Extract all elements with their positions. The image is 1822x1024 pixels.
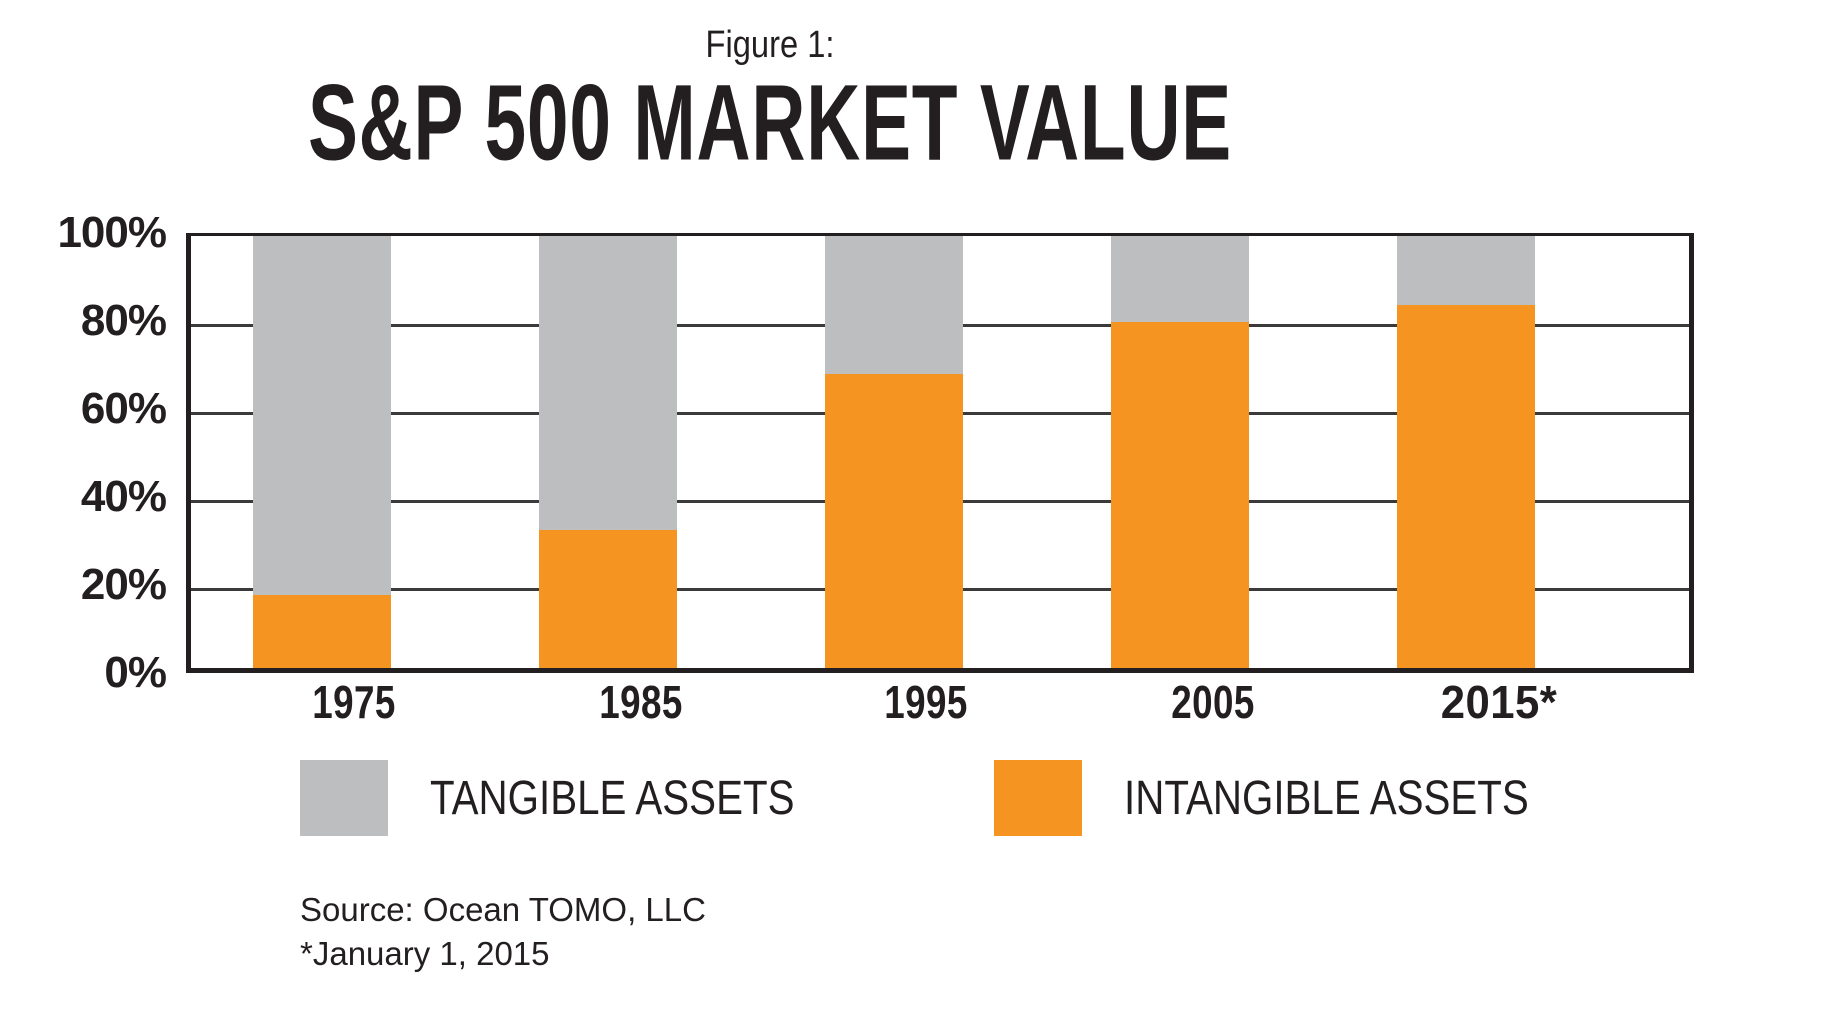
bar-1995 bbox=[825, 236, 963, 668]
figure-root: Figure 1: S&P 500 MARKET VALUE 100% 80% … bbox=[0, 0, 1822, 1024]
chart-legend: TANGIBLE ASSETS INTANGIBLE ASSETS bbox=[300, 760, 1600, 840]
y-tick-100: 100% bbox=[6, 211, 166, 255]
y-axis-labels: 100% 80% 60% 40% 20% 0% bbox=[0, 233, 166, 673]
x-tick-1995: 1995 bbox=[834, 679, 1018, 725]
bar-segment-tangible bbox=[825, 236, 963, 374]
x-tick-2005: 2005 bbox=[1121, 679, 1305, 725]
x-tick-1975: 1975 bbox=[262, 679, 446, 725]
x-tick-2015: 2015* bbox=[1390, 679, 1609, 725]
gridline-40 bbox=[191, 500, 1689, 503]
plot-frame bbox=[186, 233, 1694, 673]
legend-swatch-intangible bbox=[994, 760, 1082, 836]
x-axis-labels: 1975 1985 1995 2005 2015* bbox=[186, 679, 1694, 737]
bar-2015 bbox=[1397, 236, 1535, 668]
page-title: S&P 500 MARKET VALUE bbox=[169, 70, 1370, 178]
bar-segment-tangible bbox=[1397, 236, 1535, 305]
y-tick-40: 40% bbox=[6, 475, 166, 519]
footnote-line: *January 1, 2015 bbox=[300, 932, 706, 976]
gridline-60 bbox=[191, 412, 1689, 415]
bar-segment-intangible bbox=[253, 595, 391, 668]
bar-2005 bbox=[1111, 236, 1249, 668]
gridline-20 bbox=[191, 588, 1689, 591]
y-tick-60: 60% bbox=[6, 387, 166, 431]
bar-1975 bbox=[253, 236, 391, 668]
x-tick-1985: 1985 bbox=[549, 679, 733, 725]
y-tick-0: 0% bbox=[6, 651, 166, 695]
legend-item-intangible: INTANGIBLE ASSETS bbox=[994, 760, 1606, 836]
bar-segment-tangible bbox=[539, 236, 677, 530]
legend-label-intangible: INTANGIBLE ASSETS bbox=[1124, 771, 1529, 826]
bar-segment-intangible bbox=[1397, 305, 1535, 668]
legend-swatch-tangible bbox=[300, 760, 388, 836]
bar-segment-tangible bbox=[1111, 236, 1249, 322]
gridline-80 bbox=[191, 324, 1689, 327]
source-line: Source: Ocean TOMO, LLC bbox=[300, 888, 706, 932]
y-tick-20: 20% bbox=[6, 563, 166, 607]
plot-area bbox=[186, 233, 1694, 673]
figure-label: Figure 1: bbox=[108, 26, 1432, 64]
bars-layer bbox=[191, 236, 1689, 668]
bar-1985 bbox=[539, 236, 677, 668]
bar-segment-intangible bbox=[1111, 322, 1249, 668]
source-notes: Source: Ocean TOMO, LLC *January 1, 2015 bbox=[300, 888, 706, 976]
bar-segment-tangible bbox=[253, 236, 391, 595]
legend-item-tangible: TANGIBLE ASSETS bbox=[300, 760, 864, 836]
bar-segment-intangible bbox=[825, 374, 963, 668]
title-block: Figure 1: S&P 500 MARKET VALUE bbox=[0, 26, 1540, 166]
y-tick-80: 80% bbox=[6, 299, 166, 343]
bar-segment-intangible bbox=[539, 530, 677, 668]
legend-label-tangible: TANGIBLE ASSETS bbox=[430, 771, 794, 826]
